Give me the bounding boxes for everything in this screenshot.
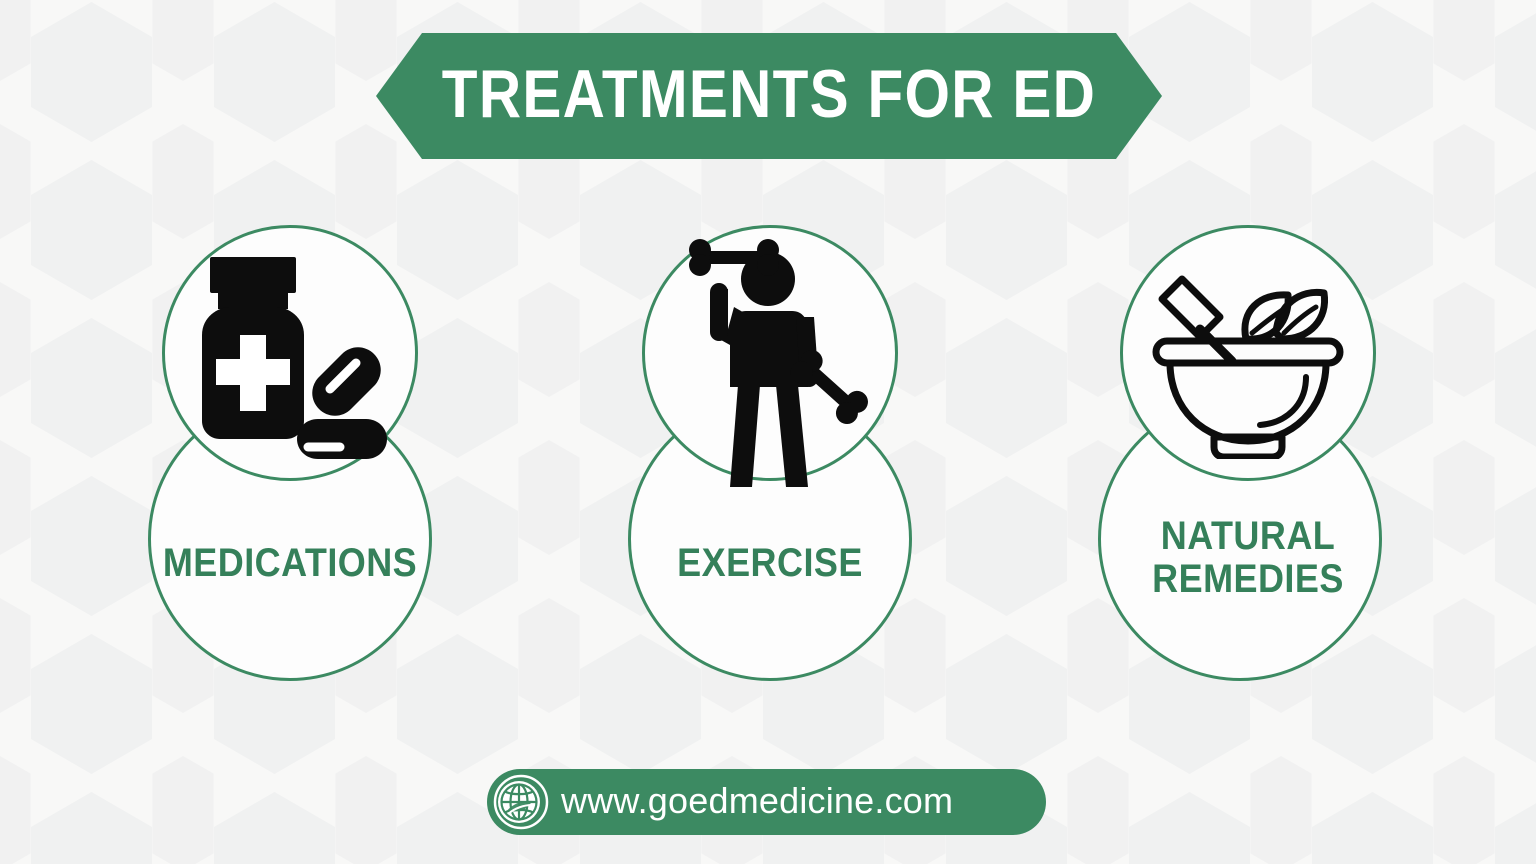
- website-url-badge[interactable]: www.goedmedicine.com: [487, 769, 1046, 835]
- bowl-inner-arc: [1260, 377, 1306, 425]
- mortar-rim: [1156, 341, 1340, 363]
- group-label-line: EXERCISE: [608, 542, 932, 585]
- pestle-shaft: [1200, 329, 1232, 361]
- mortar-pestle-leaves-icon: [1148, 259, 1348, 459]
- group-label-line: NATURAL: [1086, 515, 1410, 558]
- infographic-canvas: TREATMENTS FOR ED: [0, 0, 1536, 864]
- pill-bottle-icon: [188, 249, 388, 459]
- dumbbell-overhead: [689, 239, 779, 276]
- group-label: MEDICATIONS: [128, 542, 452, 585]
- capsule-lower: [297, 419, 387, 459]
- treatment-group-exercise[interactable]: EXERCISE: [590, 225, 950, 685]
- right-leg: [776, 385, 808, 487]
- website-url-text: www.goedmedicine.com: [561, 783, 953, 822]
- dumbbell-person-icon: [668, 237, 868, 487]
- capsule-upper: [312, 347, 381, 416]
- group-label: EXERCISE: [608, 542, 932, 585]
- group-label-line: REMEDIES: [1086, 558, 1410, 601]
- pestle-head: [1162, 279, 1220, 337]
- globe-icon: [493, 774, 549, 830]
- group-label-line: MEDICATIONS: [128, 542, 452, 585]
- group-label: NATURAL REMEDIES: [1086, 515, 1410, 601]
- page-title: TREATMENTS FOR ED: [431, 33, 1107, 159]
- treatment-group-natural-remedies[interactable]: NATURAL REMEDIES: [1068, 225, 1428, 685]
- left-leg: [730, 385, 760, 487]
- treatment-group-medications[interactable]: MEDICATIONS: [110, 225, 470, 685]
- header-banner: TREATMENTS FOR ED: [376, 33, 1162, 159]
- mortar-foot: [1214, 437, 1282, 457]
